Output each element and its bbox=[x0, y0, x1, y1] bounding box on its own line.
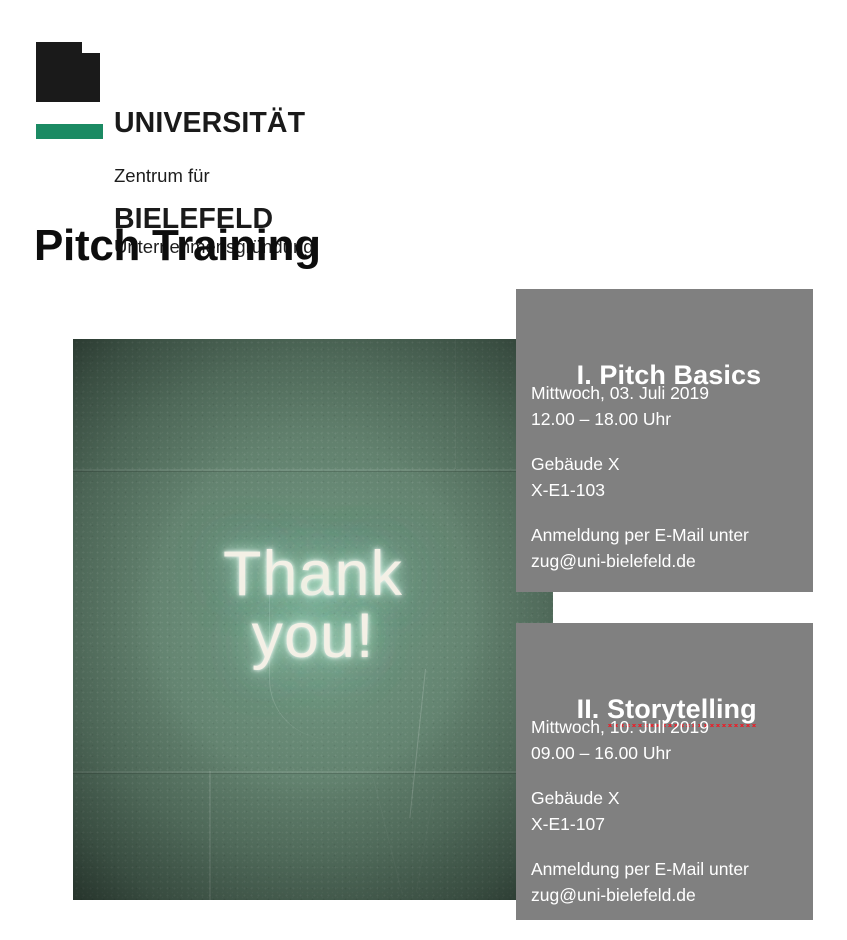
department-line-1: Zentrum für bbox=[114, 164, 314, 188]
session-room: X-E1-103 bbox=[531, 478, 801, 504]
session-registration: Anmeldung per E-Mail unter zug@uni-biele… bbox=[531, 857, 801, 908]
green-accent-bar bbox=[36, 124, 103, 139]
session-details: Mittwoch, 10. Juli 2019 09.00 – 16.00 Uh… bbox=[531, 715, 801, 908]
department-name: Zentrum für Unternehmensgründung bbox=[114, 117, 314, 306]
university-bielefeld-square-mark-icon bbox=[36, 42, 100, 102]
session-registration: Anmeldung per E-Mail unter zug@uni-biele… bbox=[531, 523, 801, 574]
poster-canvas: UNIVERSITÄT BIELEFELD Zentrum für Untern… bbox=[0, 0, 847, 940]
session-panel-pitch-basics: I. Pitch Basics Mittwoch, 03. Juli 2019 … bbox=[516, 289, 813, 592]
registration-instruction: Anmeldung per E-Mail unter bbox=[531, 523, 801, 549]
session-details: Mittwoch, 03. Juli 2019 12.00 – 18.00 Uh… bbox=[531, 381, 801, 574]
photo-vignette bbox=[73, 339, 553, 900]
page-title: Pitch Training bbox=[34, 222, 321, 270]
session-time: 12.00 – 18.00 Uhr bbox=[531, 407, 801, 433]
session-date: Mittwoch, 10. Juli 2019 bbox=[531, 715, 801, 741]
registration-email[interactable]: zug@uni-bielefeld.de bbox=[531, 549, 801, 575]
session-location: Gebäude X X-E1-103 bbox=[531, 452, 801, 503]
session-room: X-E1-107 bbox=[531, 812, 801, 838]
session-datetime: Mittwoch, 03. Juli 2019 12.00 – 18.00 Uh… bbox=[531, 381, 801, 432]
session-location: Gebäude X X-E1-107 bbox=[531, 786, 801, 837]
session-datetime: Mittwoch, 10. Juli 2019 09.00 – 16.00 Uh… bbox=[531, 715, 801, 766]
session-building: Gebäude X bbox=[531, 452, 801, 478]
session-date: Mittwoch, 03. Juli 2019 bbox=[531, 381, 801, 407]
registration-instruction: Anmeldung per E-Mail unter bbox=[531, 857, 801, 883]
neon-sign-photo: Thank you! bbox=[73, 339, 553, 900]
session-time: 09.00 – 16.00 Uhr bbox=[531, 741, 801, 767]
university-logo: UNIVERSITÄT BIELEFELD Zentrum für Untern… bbox=[36, 42, 376, 162]
registration-email[interactable]: zug@uni-bielefeld.de bbox=[531, 883, 801, 909]
session-building: Gebäude X bbox=[531, 786, 801, 812]
session-panel-storytelling: II. Storytelling Mittwoch, 10. Juli 2019… bbox=[516, 623, 813, 920]
